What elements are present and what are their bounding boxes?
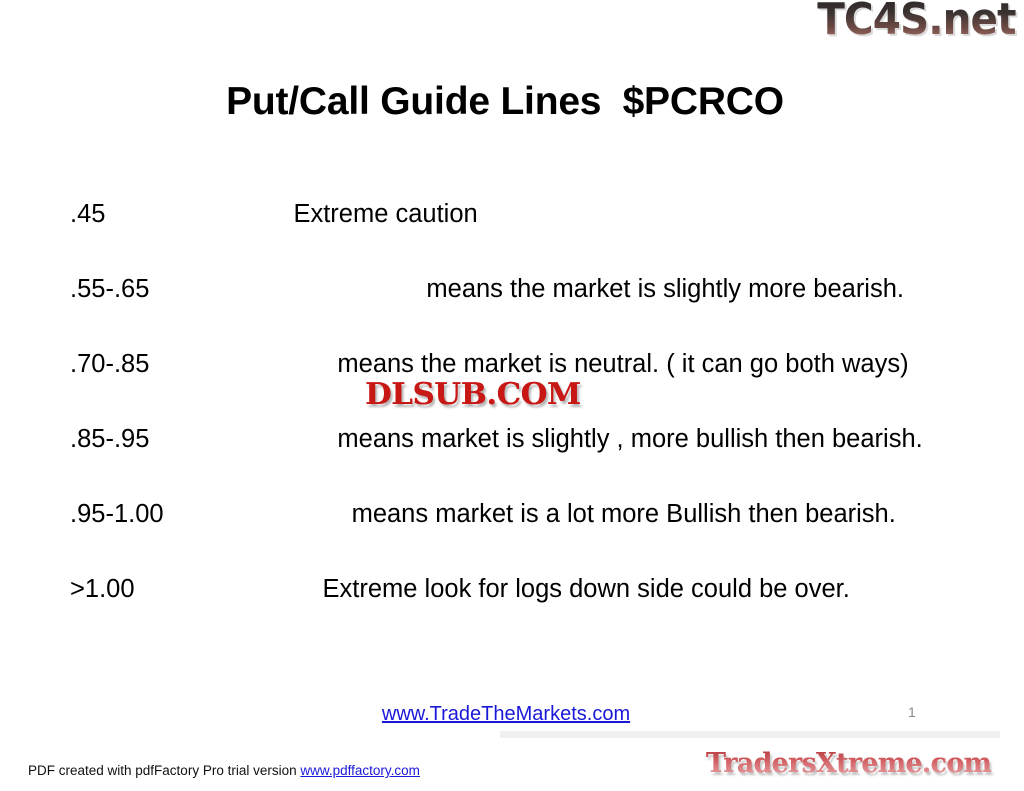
tradersxtreme-logo: TradersXtreme.com — [706, 748, 991, 779]
pdf-note-text: PDF created with pdfFactory Pro trial ve… — [28, 763, 300, 778]
slide-canvas: TC4S.net TC4S.net Put/Call Guide Lines $… — [0, 0, 1024, 791]
list-item: .45Extreme caution — [70, 196, 970, 233]
list-item: .95-1.00means market is a lot more Bulli… — [70, 496, 970, 533]
guide-value: .95-1.00 — [70, 500, 164, 528]
list-item: .55-.65means the market is slightly more… — [70, 271, 970, 308]
decorative-band — [500, 731, 1000, 738]
guide-value: >1.00 — [70, 575, 135, 603]
pdf-factory-note: PDF created with pdfFactory Pro trial ve… — [28, 763, 420, 778]
tradethemarkets-link[interactable]: www.TradeTheMarkets.com — [382, 703, 630, 725]
list-item: >1.00Extreme look for logs down side cou… — [70, 571, 970, 608]
guide-value: .85-.95 — [70, 425, 149, 453]
guide-description: means the market is neutral. ( it can go… — [337, 350, 908, 378]
guide-value: .70-.85 — [70, 350, 149, 378]
dlsub-watermark: DLSUB.COM — [365, 377, 581, 412]
guide-description: means market is slightly , more bullish … — [337, 425, 922, 453]
pdffactory-link[interactable]: www.pdffactory.com — [300, 763, 420, 778]
site-link-wrapper: www.TradeTheMarkets.com — [0, 703, 1012, 726]
guide-description: means the market is slightly more bearis… — [426, 275, 904, 303]
guide-description: means market is a lot more Bullish then … — [352, 500, 896, 528]
guide-description: Extreme caution — [293, 200, 477, 228]
guide-lines-list: .45Extreme caution .55-.65means the mark… — [70, 196, 970, 646]
guide-value: .55-.65 — [70, 275, 149, 303]
list-item: .85-.95means market is slightly , more b… — [70, 421, 970, 458]
page-title: Put/Call Guide Lines $PCRCO — [0, 80, 1010, 124]
guide-description: Extreme look for logs down side could be… — [323, 575, 850, 603]
tc4s-logo: TC4S.net — [818, 0, 1016, 44]
guide-value: .45 — [70, 200, 105, 228]
page-number: 1 — [908, 704, 916, 720]
